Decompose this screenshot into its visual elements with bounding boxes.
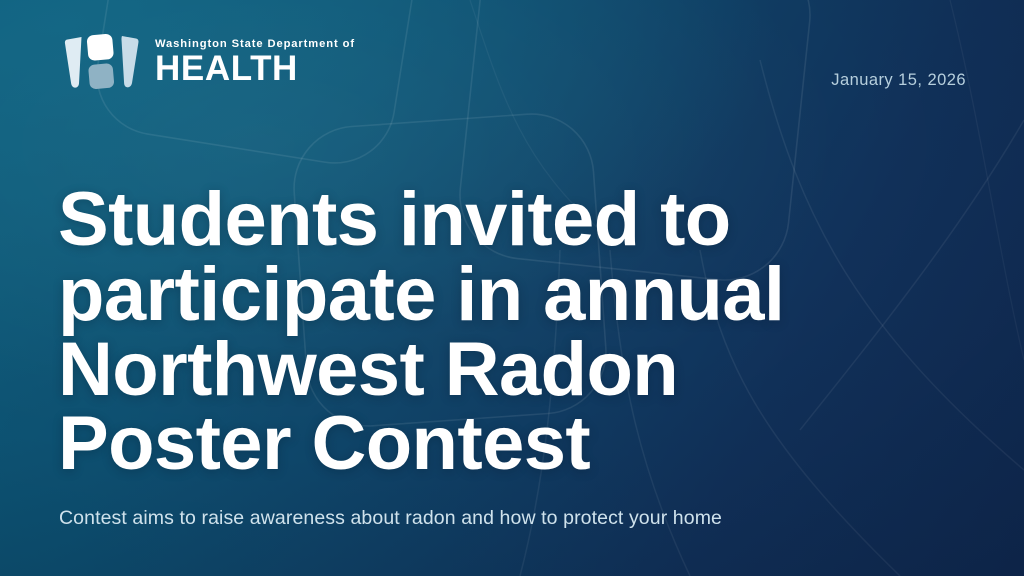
slide-content: Washington State Department of HEALTH Ja… — [0, 0, 1024, 576]
news-hero-slide: Washington State Department of HEALTH Ja… — [0, 0, 1024, 576]
headline-line-1: Students invited to — [58, 183, 958, 258]
headline-line-3: Northwest Radon — [58, 333, 958, 408]
publication-date: January 15, 2026 — [831, 71, 966, 90]
doh-logo-wordmark: HEALTH — [155, 53, 355, 85]
doh-logo-mark-icon — [60, 33, 142, 91]
doh-logo: Washington State Department of HEALTH — [60, 33, 355, 91]
page-subtitle: Contest aims to raise awareness about ra… — [59, 507, 722, 530]
headline-line-4: Poster Contest — [58, 407, 958, 482]
page-title: Students invited to participate in annua… — [58, 183, 958, 482]
headline-line-2: participate in annual — [58, 258, 958, 333]
doh-logo-text: Washington State Department of HEALTH — [155, 39, 355, 85]
